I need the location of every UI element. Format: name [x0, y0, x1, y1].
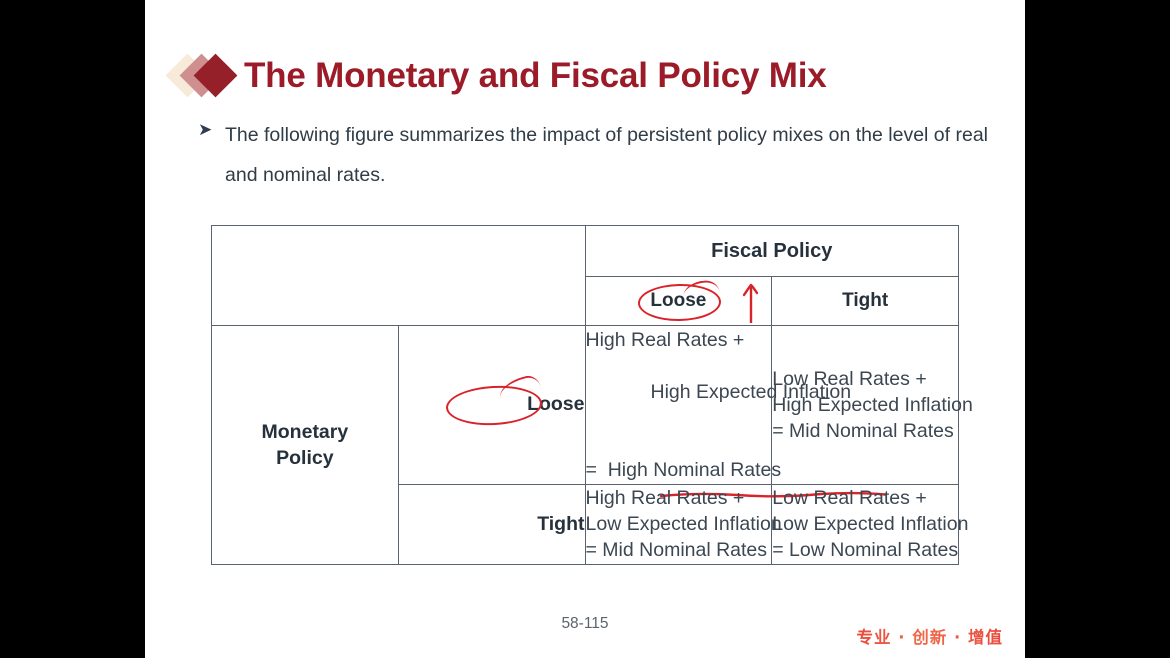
slide-title-row: The Monetary and Fiscal Policy Mix — [172, 45, 827, 107]
cell-loose-loose: High Real Rates + High Expected Inflatio… — [585, 326, 772, 485]
brand-logo: 专业 · 创新 · 增值 — [856, 624, 1003, 648]
row-header-loose-label: Loose — [527, 393, 584, 415]
cell-loose-tight-line3: = Mid Nominal Rates — [772, 418, 958, 444]
cell-tight-loose-line3: = Mid Nominal Rates — [586, 537, 772, 563]
cell-loose-loose-line1: High Real Rates + — [586, 327, 772, 353]
bullet-paragraph: ➤ The following figure summarizes the im… — [198, 115, 988, 195]
table-corner-blank — [212, 226, 586, 326]
letterbox-bar-right — [1025, 0, 1170, 658]
policy-mix-table: Fiscal Policy Loose Tight — [211, 225, 959, 565]
row-header-loose: Loose — [398, 326, 585, 485]
red-arrow-up-annotation — [740, 281, 762, 323]
column-group-header-fiscal-policy: Fiscal Policy — [585, 226, 959, 277]
cell-tight-tight-line1: Low Real Rates + — [772, 485, 958, 511]
cell-loose-loose-line3: = High Nominal Rates — [586, 457, 772, 483]
cell-tight-tight-line2: Low Expected Inflation — [772, 511, 958, 537]
cell-loose-tight: Low Real Rates + High Expected Inflation… — [772, 326, 959, 485]
table-row: Monetary Policy Loose High Real Rates + … — [212, 326, 959, 485]
cell-tight-loose-line2: Low Expected Inflation — [586, 511, 772, 537]
diamonds-decoration-icon — [172, 53, 242, 99]
cell-tight-tight-line3: = Low Nominal Rates — [772, 537, 958, 563]
column-header-loose-label: Loose — [650, 290, 706, 311]
cell-loose-loose-line2-wrapper: High Expected Inflation — [586, 353, 772, 457]
presentation-slide: The Monetary and Fiscal Policy Mix ➤ The… — [145, 0, 1025, 658]
column-header-loose: Loose — [585, 277, 772, 326]
cell-loose-tight-line2: High Expected Inflation — [772, 392, 958, 418]
page-title: The Monetary and Fiscal Policy Mix — [244, 56, 827, 96]
column-header-tight: Tight — [772, 277, 959, 326]
cell-tight-tight: Low Real Rates + Low Expected Inflation … — [772, 484, 959, 564]
row-header-tight: Tight — [398, 484, 585, 564]
bullet-arrow-icon: ➤ — [198, 115, 225, 138]
cell-tight-loose-line1: High Real Rates + — [586, 485, 772, 511]
row-group-header-monetary-policy: Monetary Policy — [212, 326, 399, 565]
table-header-row-1: Fiscal Policy — [212, 226, 959, 277]
video-player-frame: The Monetary and Fiscal Policy Mix ➤ The… — [0, 0, 1170, 658]
cell-loose-tight-line1: Low Real Rates + — [772, 366, 958, 392]
bullet-text: The following figure summarizes the impa… — [225, 115, 988, 195]
row-group-header-line2: Policy — [276, 447, 333, 469]
cell-tight-loose: High Real Rates + Low Expected Inflation… — [585, 484, 772, 564]
letterbox-bar-left — [0, 0, 145, 658]
row-group-header-line1: Monetary — [262, 421, 349, 443]
